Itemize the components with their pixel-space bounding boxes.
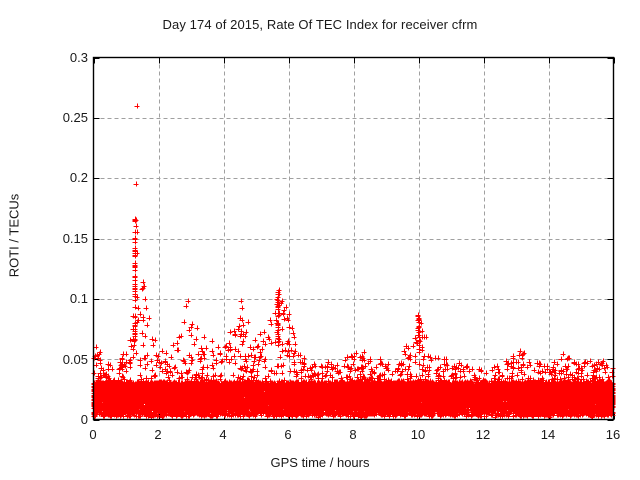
roti-scatter-plot: Day 174 of 2015, Rate Of TEC Index for r… <box>0 0 640 480</box>
plot-canvas <box>0 0 640 480</box>
data-points <box>92 104 616 420</box>
